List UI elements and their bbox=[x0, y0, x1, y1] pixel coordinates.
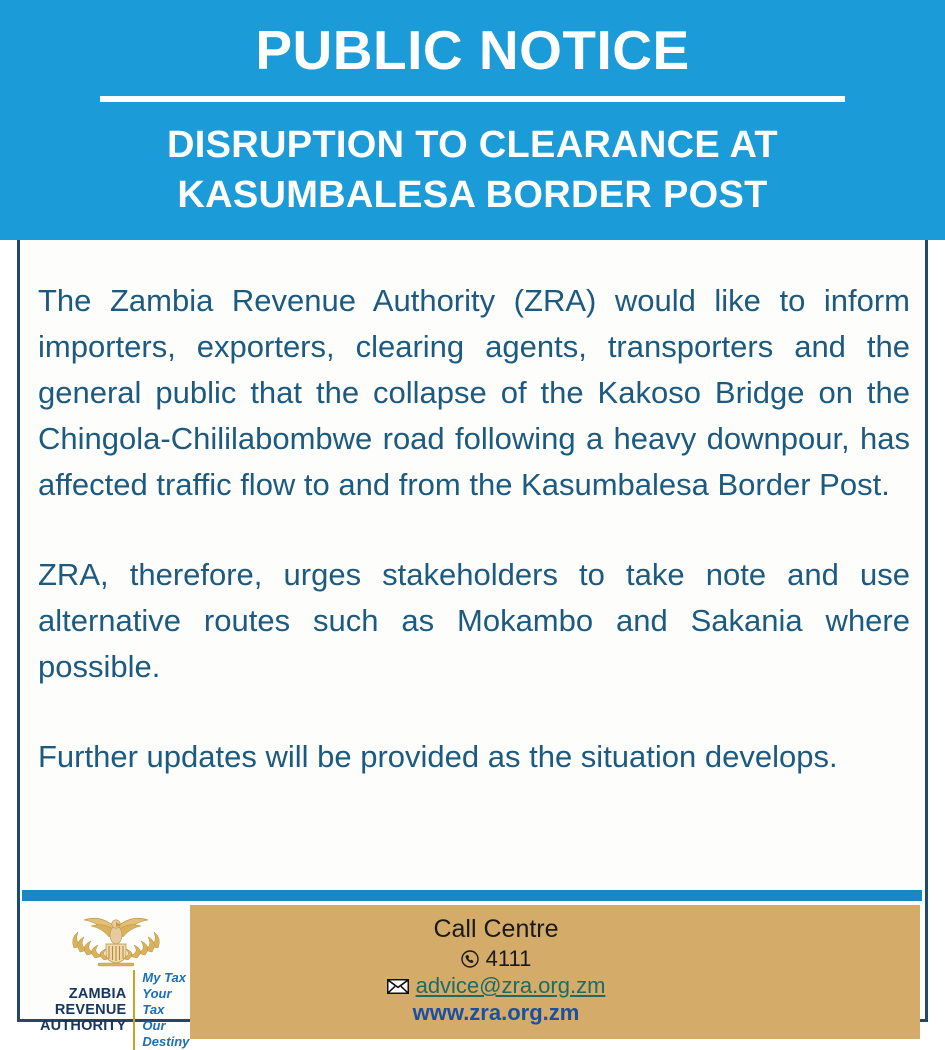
notice-body-text: The Zambia Revenue Authority (ZRA) would… bbox=[38, 278, 910, 780]
public-notice-poster: PUBLIC NOTICE DISRUPTION TO CLEARANCE AT… bbox=[0, 0, 945, 1039]
zra-logo-tagline-line-2: Your Tax bbox=[142, 986, 192, 1018]
footer-divider bbox=[22, 890, 922, 901]
envelope-icon bbox=[387, 979, 409, 994]
phone-icon bbox=[461, 950, 479, 968]
zra-logo-lockup: ZAMBIA REVENUE AUTHORITY My Tax Your Tax… bbox=[40, 970, 192, 1050]
notice-subtitle-line-1: DISRUPTION TO CLEARANCE AT bbox=[0, 120, 945, 170]
zra-logo-name-line-2: REVENUE bbox=[40, 1002, 126, 1018]
contact-email-row: advice@zra.org.zm bbox=[190, 973, 802, 999]
notice-paragraph-3: Further updates will be provided as the … bbox=[38, 734, 910, 780]
zra-logo-tagline: My Tax Your Tax Our Destiny bbox=[142, 970, 192, 1050]
contact-details: Call Centre 4111 bbox=[190, 905, 802, 1026]
zra-logo: ZAMBIA REVENUE AUTHORITY My Tax Your Tax… bbox=[40, 908, 192, 1018]
notice-header: PUBLIC NOTICE DISRUPTION TO CLEARANCE AT… bbox=[0, 0, 945, 240]
notice-paragraph-1: The Zambia Revenue Authority (ZRA) would… bbox=[38, 278, 910, 508]
zambia-coat-of-arms-eagle-icon bbox=[68, 908, 164, 968]
zra-logo-name-line-1: ZAMBIA bbox=[40, 986, 126, 1002]
zra-logo-tagline-line-3: Our Destiny bbox=[142, 1018, 192, 1050]
contact-website[interactable]: www.zra.org.zm bbox=[413, 1000, 580, 1026]
footer-contact-panel: Call Centre 4111 bbox=[190, 905, 920, 1039]
notice-subtitle-line-2: KASUMBALESA BORDER POST bbox=[0, 170, 945, 220]
contact-website-row: www.zra.org.zm bbox=[190, 1000, 802, 1026]
zra-logo-divider bbox=[133, 970, 135, 1050]
contact-email[interactable]: advice@zra.org.zm bbox=[416, 973, 606, 999]
notice-subtitle: DISRUPTION TO CLEARANCE AT KASUMBALESA B… bbox=[0, 102, 945, 220]
page-title: PUBLIC NOTICE bbox=[0, 0, 945, 84]
zra-logo-name-line-3: AUTHORITY bbox=[40, 1018, 126, 1034]
zra-logo-name: ZAMBIA REVENUE AUTHORITY bbox=[40, 986, 126, 1034]
notice-paragraph-2: ZRA, therefore, urges stakeholders to ta… bbox=[38, 552, 910, 690]
zra-logo-tagline-line-1: My Tax bbox=[142, 970, 192, 986]
call-centre-number[interactable]: 4111 bbox=[486, 946, 532, 972]
contact-phone-row: 4111 bbox=[190, 946, 802, 972]
call-centre-label: Call Centre bbox=[190, 913, 802, 945]
